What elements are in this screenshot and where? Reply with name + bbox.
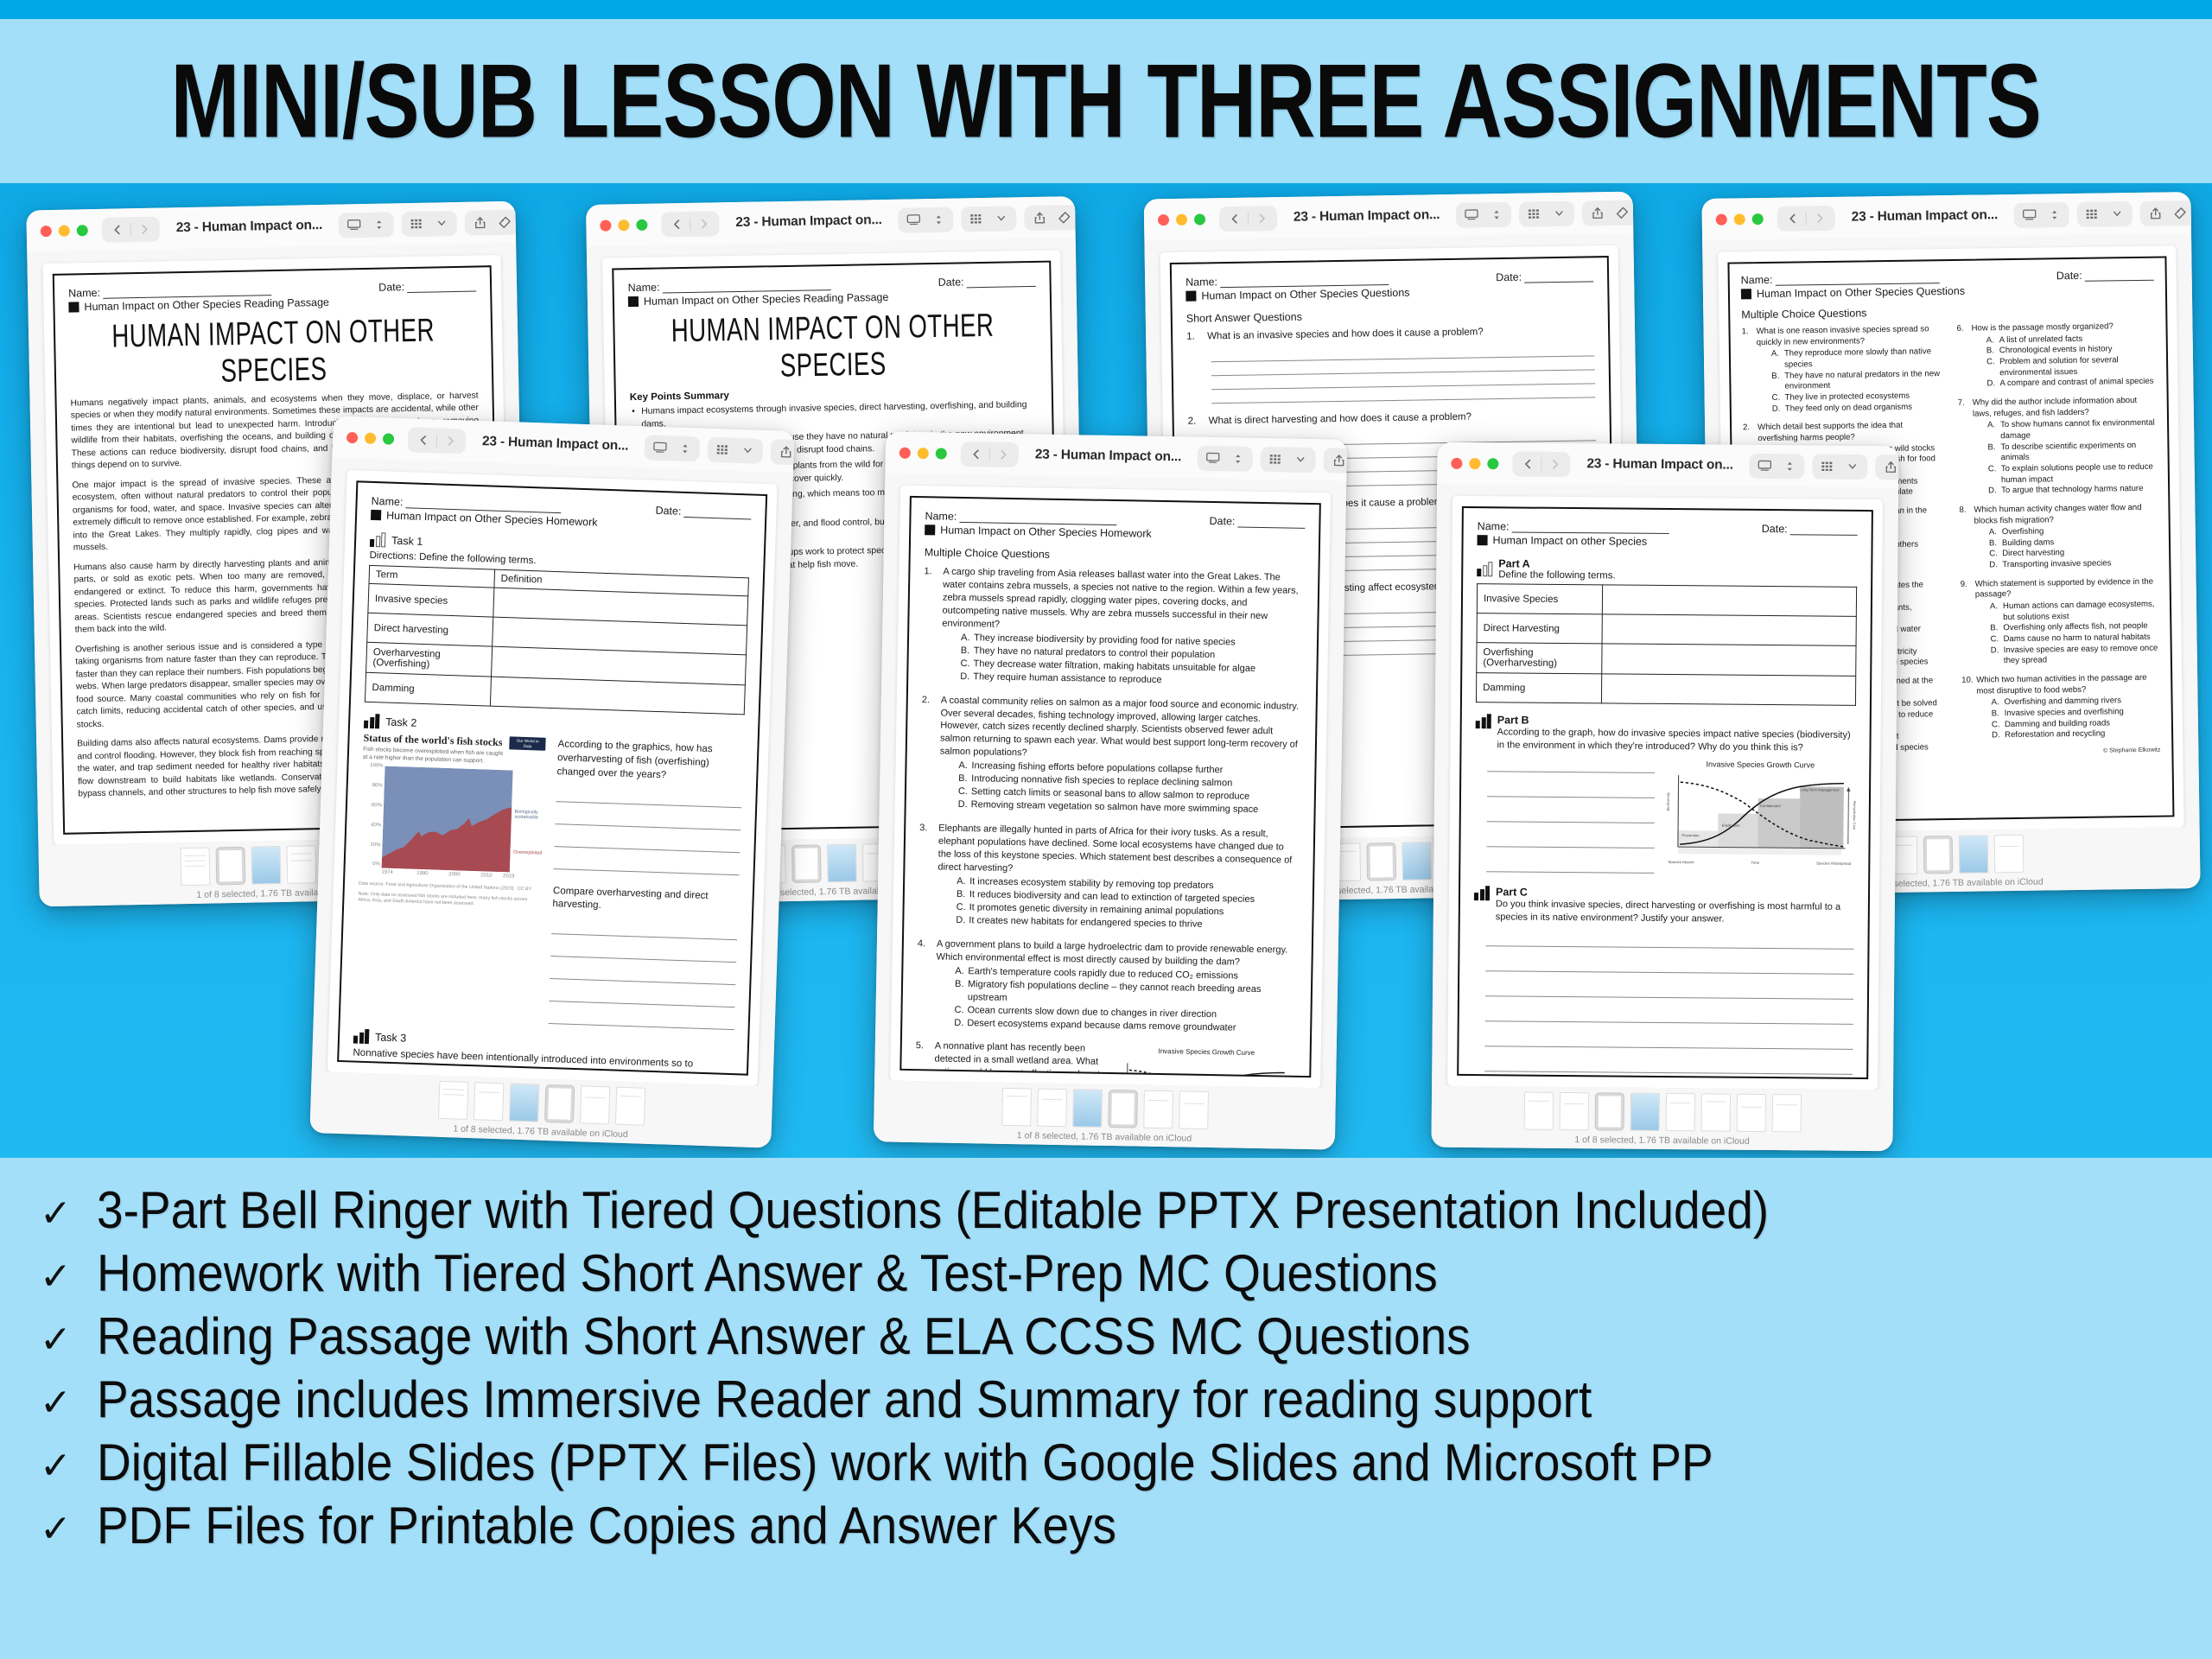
name-input-rule[interactable] (1511, 531, 1669, 534)
minimize-button[interactable] (918, 448, 929, 459)
window-title-text: 23 - Human Impact on... (1578, 456, 1742, 474)
check-icon: ✓ (40, 1321, 74, 1359)
share-icon[interactable] (468, 212, 492, 234)
nav-buttons[interactable] (408, 427, 467, 454)
view-mode-button[interactable] (1750, 453, 1805, 479)
chevron-down-icon[interactable] (989, 207, 1013, 229)
mc-options[interactable]: A.To show humans cannot fix environmenta… (1973, 418, 2157, 498)
thumbnail-item[interactable] (286, 845, 316, 884)
document-page: Name: Date: Human Impact on other Specie… (1447, 496, 1883, 1090)
bar-chart-icon (1477, 562, 1492, 576)
bar-chart-icon (353, 1029, 370, 1045)
thumbnail-item-selected[interactable] (215, 847, 245, 886)
date-input-rule[interactable] (1524, 281, 1593, 283)
chevron-down-icon[interactable] (1548, 202, 1571, 224)
window-controls[interactable] (37, 225, 94, 237)
thumbnail-item[interactable] (1771, 1094, 1801, 1132)
mc-options[interactable]: A.Increasing fishing efforts before popu… (939, 760, 1301, 817)
mc-option[interactable]: D.Transporting invasive species (1989, 558, 2158, 571)
tag-icon[interactable] (1052, 207, 1076, 228)
close-button[interactable] (346, 431, 358, 442)
legend-overexploited: Overexploited (513, 850, 542, 856)
answer-lines[interactable] (1472, 932, 1853, 1075)
mc-option[interactable]: A.They reproduce more slowly than native… (1771, 346, 1940, 371)
view-mode-icon[interactable] (342, 213, 365, 236)
finder-status-text: 1 of 8 selected, 1.76 TB available on iC… (882, 1128, 1326, 1146)
view-mode-button[interactable] (1456, 201, 1511, 227)
window-title-text: 23 - Human Impact on... (168, 218, 332, 237)
share-icon[interactable] (774, 441, 795, 463)
mc-options[interactable]: A.They increase biodiversity by providin… (941, 631, 1303, 689)
partB-header: Part B According to the graph, how do in… (1475, 714, 1855, 754)
close-button[interactable] (600, 219, 611, 231)
group-by-button[interactable] (2077, 201, 2133, 227)
window-homework-tasks[interactable]: 23 - Human Impact on... (309, 416, 794, 1147)
view-mode-button[interactable] (339, 212, 395, 238)
group-by-button[interactable] (961, 206, 1016, 232)
task2-questions: According to the graphics, how has overh… (549, 738, 744, 1030)
action-buttons[interactable] (1024, 204, 1087, 231)
feature-label: Homework with Tiered Short Answer & Test… (97, 1243, 1438, 1303)
date-input-rule[interactable] (967, 286, 1036, 288)
minimize-button[interactable] (618, 219, 629, 231)
action-buttons[interactable] (1324, 448, 1347, 474)
feature-label: Digital Fillable Slides (PPTX Files) wor… (97, 1432, 1713, 1492)
task2-question-1: According to the graphics, how has overh… (556, 738, 743, 785)
maximize-button[interactable] (1194, 213, 1205, 225)
minimize-button[interactable] (1734, 213, 1745, 225)
list-item: Humans impact ecosystems through invasiv… (630, 398, 1038, 431)
x-end-label: Species Widespread (1816, 861, 1851, 866)
group-by-icon[interactable] (405, 213, 429, 235)
y-axis-labels: 100% 80% 60% 40% 20% 0% (359, 766, 385, 868)
stage-label-eradication: Eradication (1722, 823, 1740, 827)
date-field-label: Date: (938, 275, 1036, 289)
group-by-icon[interactable] (1264, 448, 1287, 470)
feature-label: PDF Files for Printable Copies and Answe… (97, 1495, 1116, 1555)
view-mode-button[interactable] (645, 435, 701, 461)
thumbnail-item[interactable] (1736, 1094, 1765, 1132)
answer-lines[interactable] (549, 920, 738, 1030)
thumbnail-item[interactable] (1001, 1088, 1032, 1127)
feature-item: ✓ 3-Part Bell Ringer with Tiered Questio… (40, 1182, 2172, 1237)
stage-label-containment: Containment (1760, 804, 1781, 808)
action-buttons[interactable] (2140, 200, 2201, 226)
square-bullet-icon (1185, 291, 1196, 302)
chevron-left-icon[interactable] (664, 213, 688, 234)
worksheet-sheet: Name: Date: Human Impact on Other Specie… (899, 496, 1321, 1077)
share-icon[interactable] (2144, 202, 2167, 224)
thumbnail-item[interactable] (180, 848, 210, 887)
square-bullet-icon (371, 510, 381, 520)
worksheet-sheet: Name: Date: Human Impact on Other Specie… (337, 480, 767, 1075)
view-mode-icon[interactable] (2018, 204, 2041, 226)
worksheet-sheet: Name: Date: Human Impact on other Specie… (1457, 506, 1873, 1079)
worksheet-heading: HUMAN IMPACT ON OTHER SPECIES (645, 308, 1021, 388)
thumbnail-item[interactable] (1559, 1092, 1588, 1130)
close-button[interactable] (899, 447, 911, 458)
window-homework-multiple-choice[interactable]: 23 - Human Impact on... (874, 431, 1347, 1149)
thumbnail-item-selected[interactable] (1108, 1090, 1138, 1128)
maximize-button[interactable] (1487, 458, 1498, 469)
name-field-label: Name: (1185, 273, 1389, 289)
more-options-icon[interactable] (518, 211, 529, 233)
chevron-left-icon[interactable] (1223, 207, 1246, 229)
minimize-button[interactable] (59, 225, 70, 236)
nav-buttons[interactable] (1512, 451, 1570, 477)
date-field-label: Date: (2056, 269, 2154, 283)
date-field-label: Date: (1209, 515, 1305, 529)
mc-options[interactable]: A.Overfishing and damming rivers B.Invas… (1977, 696, 2161, 742)
more-options-icon[interactable] (1636, 201, 1643, 223)
chevron-updown-icon[interactable] (2043, 204, 2066, 226)
nav-buttons[interactable] (961, 441, 1019, 467)
thumbnail-item[interactable] (508, 1084, 538, 1122)
document-viewport: Name: Date: Human Impact on Other Specie… (874, 473, 1346, 1088)
group-by-button[interactable] (1519, 200, 1574, 226)
question-item: 1.What is an invasive species and how do… (1186, 325, 1594, 341)
chart-plot: Biologically sustainable Overexploited (382, 766, 545, 874)
definition-cell[interactable] (1602, 585, 1856, 617)
square-bullet-icon (1741, 289, 1751, 299)
page-title: MINI/SUB LESSON WITH THREE ASSIGNMENTS (171, 41, 2041, 161)
mc-options[interactable]: A.It increases ecosystem stability by re… (937, 874, 1299, 932)
maximize-button[interactable] (936, 448, 947, 459)
action-buttons[interactable] (771, 439, 795, 467)
worksheet-heading: HUMAN IMPACT ON OTHER SPECIES (86, 312, 462, 392)
name-date-row: Name: Date: (1478, 520, 1858, 536)
thumbnail-item[interactable] (1630, 1093, 1659, 1131)
section-label: Multiple Choice Questions (925, 546, 1305, 565)
window-titlebar[interactable]: 23 - Human Impact on... (1701, 192, 2191, 240)
mc-option[interactable]: B.To describe scientific experiments on … (1987, 440, 2156, 464)
thumbnail-item[interactable] (1665, 1093, 1694, 1131)
mc-question: 7.Why did the author include information… (1958, 396, 2158, 498)
thumbnail-item[interactable] (473, 1082, 503, 1121)
answer-lines[interactable] (1211, 342, 1595, 404)
chevron-updown-icon[interactable] (1226, 448, 1249, 469)
name-field-label: Name: (1741, 271, 1940, 286)
chevron-down-icon[interactable] (430, 213, 454, 235)
feature-item: ✓ Reading Passage with Short Answer & EL… (40, 1308, 2172, 1363)
group-by-button[interactable] (1813, 454, 1868, 480)
nav-buttons[interactable] (101, 216, 160, 242)
mc-option[interactable]: A.To show humans cannot fix environmenta… (1987, 418, 2156, 442)
maximize-button[interactable] (383, 433, 394, 444)
square-bullet-icon (628, 296, 639, 307)
section-label: Multiple Choice Questions (1741, 303, 2154, 321)
mc-option[interactable]: D.A compare and contrast of animal speci… (1986, 377, 2155, 390)
chevron-right-icon[interactable] (992, 443, 1015, 465)
section-label: Short Answer Questions (1186, 306, 1594, 324)
mc-option[interactable]: B.They have no natural predators in the … (1771, 369, 1940, 393)
group-by-icon[interactable] (1816, 455, 1840, 477)
action-buttons[interactable] (1876, 454, 1899, 480)
mc-option[interactable]: D.Reforestation and recycling (1992, 728, 2160, 741)
tag-icon[interactable] (1611, 201, 1634, 223)
definition-cell[interactable] (1601, 674, 1855, 706)
thumbnail-item[interactable] (1523, 1092, 1553, 1130)
view-mode-icon[interactable] (1459, 204, 1483, 226)
chevron-updown-icon[interactable] (926, 208, 950, 230)
partC-header: Part C Do you think invasive species, di… (1474, 887, 1854, 927)
mc-question: 8.Which human activity changes water flo… (1959, 503, 2158, 572)
action-buttons[interactable] (1582, 200, 1643, 226)
window-controls[interactable] (896, 447, 953, 459)
action-buttons[interactable] (465, 208, 529, 235)
check-icon: ✓ (40, 1447, 74, 1485)
close-button[interactable] (1158, 214, 1169, 226)
maximize-button[interactable] (636, 219, 647, 230)
date-input-rule[interactable] (1790, 534, 1858, 536)
date-input-rule[interactable] (1237, 527, 1305, 529)
table-row[interactable]: Direct Harvesting (1477, 613, 1856, 646)
maximize-button[interactable] (1752, 213, 1764, 224)
window-controls[interactable] (1154, 213, 1211, 226)
chevron-down-icon[interactable] (1841, 455, 1865, 477)
name-field-label: Name: (1478, 520, 1669, 534)
top-accent-bar (0, 0, 2212, 19)
header-banner: MINI/SUB LESSON WITH THREE ASSIGNMENTS (0, 19, 2212, 183)
date-input-rule[interactable] (407, 291, 476, 294)
feature-item: ✓ Passage includes Immersive Reader and … (40, 1371, 2172, 1427)
mc-option[interactable]: D.To argue that technology harms nature (1988, 484, 2157, 497)
answer-lines[interactable] (554, 788, 742, 875)
chevron-down-icon[interactable] (2106, 203, 2129, 225)
thumbnail-item-selected[interactable] (1923, 836, 1953, 874)
chevron-left-icon[interactable] (964, 442, 988, 464)
group-by-icon[interactable] (2081, 203, 2104, 225)
mc-question-5-row: 5.A nonnative plant has recently been de… (912, 1040, 1296, 1078)
thumbnail-item[interactable] (1993, 835, 2024, 873)
feature-list: ✓ 3-Part Bell Ringer with Tiered Questio… (0, 1158, 2212, 1659)
thumbnail-item-selected[interactable] (1366, 842, 1396, 881)
window-title-text: 23 - Human Impact on... (1285, 207, 1449, 226)
window-title-text: 23 - Human Impact on... (474, 434, 638, 454)
nav-buttons[interactable] (1777, 205, 1835, 231)
group-by-icon[interactable] (711, 438, 735, 461)
thumbnail-item-selected[interactable] (543, 1084, 574, 1123)
close-button[interactable] (41, 225, 52, 236)
mc-question: 1.What is one reason invasive species sp… (1741, 324, 1940, 415)
feature-label: Reading Passage with Short Answer & ELA … (97, 1306, 1471, 1366)
mc-option[interactable]: D.Invasive species are easy to remove on… (1991, 643, 2159, 667)
chevron-right-icon[interactable] (1808, 207, 1832, 228)
window-controls[interactable] (343, 431, 400, 444)
copyright-notice: © Stephanie Elkowitz (1962, 747, 2160, 756)
chevron-right-icon[interactable] (133, 218, 156, 240)
chevron-right-icon[interactable] (1250, 207, 1274, 229)
close-button[interactable] (1451, 457, 1462, 468)
chart-source-note: Data source: Food and Agriculture Organi… (359, 881, 541, 893)
view-mode-icon[interactable] (901, 209, 925, 231)
nav-buttons[interactable] (1219, 206, 1277, 232)
name-field-label: Name: (925, 510, 1116, 525)
table-row[interactable]: Damming (1476, 673, 1855, 706)
more-options-icon[interactable] (1077, 206, 1087, 227)
minimize-button[interactable] (365, 432, 376, 443)
window-controls[interactable] (1713, 213, 1770, 225)
thumbnail-item-selected[interactable] (1594, 1092, 1624, 1130)
view-mode-button[interactable] (1198, 445, 1253, 471)
invasive-species-growth-curve-figure: Invasive Species Growth Curve (1664, 760, 1855, 875)
thumbnail-item[interactable] (614, 1087, 645, 1126)
nav-buttons[interactable] (661, 211, 719, 237)
document-page: Name: Date: Human Impact on Other Specie… (327, 470, 778, 1086)
definitions-table[interactable]: Term Definition Invasive species Direct … (365, 565, 749, 715)
view-mode-icon[interactable] (1201, 447, 1224, 468)
date-field-label: Date: (1496, 270, 1593, 283)
table-row[interactable]: Overfishing (Overharvesting) (1477, 643, 1856, 677)
y-axis-label-right: Remediation Cost (1853, 801, 1857, 829)
window-controls[interactable] (596, 219, 653, 231)
definition-cell[interactable] (1602, 644, 1856, 677)
chevron-right-icon[interactable] (692, 213, 715, 234)
chart-subtitle: Fish stocks become overexploited when fi… (363, 747, 506, 766)
chevron-down-icon[interactable] (736, 439, 760, 461)
mc-options[interactable]: A.A list of unrelated facts B.Chronologi… (1972, 333, 2156, 390)
chevron-updown-icon[interactable] (367, 213, 391, 236)
chevron-updown-icon[interactable] (1484, 203, 1508, 225)
mc-question: 5.A nonnative plant has recently been de… (912, 1040, 1109, 1078)
mc-option[interactable]: C.Problem and solution for several envir… (1986, 355, 2155, 379)
mc-column-right: 6.How is the passage mostly organized? A… (1956, 321, 2160, 761)
more-options-icon[interactable] (2194, 201, 2201, 223)
x-start-label: Species Absent (1668, 861, 1694, 865)
thumbnail-item[interactable] (1179, 1090, 1209, 1129)
view-mode-button[interactable] (898, 207, 953, 232)
mc-options[interactable]: A.Earth's temperature cools rapidly due … (935, 964, 1297, 1035)
legend-sustainable: Biologically sustainable (514, 810, 543, 822)
square-bullet-icon (1478, 535, 1488, 545)
share-icon[interactable] (1586, 202, 1609, 224)
thumbnail-item[interactable] (1072, 1089, 1103, 1128)
tag-icon[interactable] (493, 211, 517, 233)
thumbnail-item[interactable] (1700, 1093, 1730, 1131)
check-icon: ✓ (40, 1384, 74, 1422)
mc-options[interactable]: A.They reproduce more slowly than native… (1757, 346, 1941, 415)
feature-item: ✓ PDF Files for Printable Copies and Ans… (40, 1497, 2172, 1553)
tag-icon[interactable] (2169, 202, 2192, 224)
thumbnail-item[interactable] (438, 1081, 468, 1120)
chart-note: Note: Only data on assessed fish stocks … (358, 892, 541, 910)
finder-status-text: 1 of 8 selected, 1.76 TB available on iC… (1440, 1134, 1884, 1147)
y-axis-label-left: Biodiversity (1666, 792, 1670, 810)
window-titlebar[interactable]: 23 - Human Impact on... (1437, 442, 1898, 488)
finder-thumbnail-strip[interactable]: 1 of 8 selected, 1.76 TB available on iC… (1431, 1086, 1893, 1152)
mc-option[interactable]: C.To explain solutions people use to red… (1988, 462, 2157, 486)
minimize-button[interactable] (1469, 458, 1480, 469)
maximize-button[interactable] (77, 225, 88, 236)
date-input-rule[interactable] (2085, 280, 2154, 282)
group-by-button[interactable] (402, 210, 458, 236)
date-field-label: Date: (655, 505, 751, 520)
thumbnail-item[interactable] (1402, 842, 1432, 880)
window-stage: 23 - Human Impact on... (0, 183, 2212, 1158)
thumbnails[interactable] (882, 1085, 1327, 1131)
share-icon[interactable] (1027, 207, 1051, 228)
feature-label: Passage includes Immersive Reader and Su… (97, 1369, 1592, 1429)
bar-chart-icon (364, 714, 380, 729)
chevron-right-icon[interactable] (439, 429, 463, 452)
thumbnail-item[interactable] (1143, 1090, 1173, 1129)
x-axis-label: Time (1751, 861, 1760, 865)
close-button[interactable] (1716, 213, 1727, 225)
minimize-button[interactable] (1176, 213, 1187, 225)
mc-options[interactable]: A.Overfishing B.Building dams C.Direct h… (1974, 525, 2158, 572)
chart-title: Invasive Species Growth Curve (1665, 760, 1855, 770)
mc-options[interactable]: A.Human actions can damage ecosystems, b… (1975, 600, 2159, 668)
group-by-button[interactable] (1261, 446, 1316, 472)
check-icon: ✓ (40, 1258, 74, 1296)
chevron-left-icon[interactable] (105, 219, 129, 241)
view-mode-button[interactable] (2014, 202, 2069, 228)
chevron-right-icon[interactable] (1543, 453, 1567, 474)
square-bullet-icon (68, 302, 79, 312)
mc-option[interactable]: A.Human actions can damage ecosystems, b… (1990, 600, 2158, 624)
question-item: 2.What is direct harvesting and how does… (1188, 410, 1596, 426)
doc-subtitle: Human Impact on other Species (1478, 534, 1858, 550)
document-viewport: Name: Date: Human Impact on Other Specie… (312, 457, 793, 1086)
window-controls[interactable] (1447, 457, 1504, 469)
window-bell-ringer[interactable]: 23 - Human Impact on... (1431, 442, 1898, 1152)
thumbnail-item[interactable] (1958, 835, 1988, 873)
chevron-down-icon[interactable] (1289, 448, 1313, 470)
mc-question: 2.A coastal community relies on salmon a… (920, 694, 1302, 817)
mc-question: 4.A government plans to build a large hy… (916, 938, 1298, 1035)
table-row[interactable]: Invasive Species (1477, 584, 1856, 617)
chevron-updown-icon[interactable] (1778, 455, 1802, 477)
thumbnail-item[interactable] (827, 844, 857, 883)
thumbnails[interactable] (1440, 1091, 1885, 1133)
stage-label-prevention: Prevention (1681, 833, 1699, 837)
finder-thumbnail-strip[interactable]: 1 of 8 selected, 1.76 TB available on iC… (874, 1080, 1336, 1149)
group-by-button[interactable] (708, 436, 764, 463)
mc-question: 6.How is the passage mostly organized? A… (1956, 321, 2155, 391)
mc-question: 1.A cargo ship traveling from Asia relea… (922, 565, 1304, 689)
share-icon[interactable] (1327, 449, 1347, 471)
share-icon[interactable] (1879, 456, 1899, 478)
mc-option[interactable]: D.They feed only on dead organisms (1772, 402, 1941, 415)
view-mode-icon[interactable] (1753, 454, 1777, 476)
definition-cell[interactable] (1602, 614, 1856, 646)
definitions-table[interactable]: Invasive Species Direct Harvesting Overf… (1476, 583, 1857, 706)
chevron-left-icon[interactable] (1516, 453, 1539, 474)
invasive-species-growth-curve-figure: Invasive Species Growth Curve (1114, 1044, 1296, 1077)
group-by-icon[interactable] (1522, 203, 1546, 225)
date-field-label: Date: (378, 280, 476, 294)
thumbnail-item[interactable] (1037, 1089, 1067, 1128)
mc-question: 10.Which two human activities in the pas… (1961, 673, 2160, 742)
group-by-icon[interactable] (964, 207, 988, 229)
check-icon: ✓ (40, 1195, 74, 1233)
bar-chart-icon (1476, 714, 1491, 728)
answer-lines[interactable] (1474, 759, 1655, 874)
chevron-updown-icon[interactable] (673, 437, 697, 460)
partB-body: Invasive Species Growth Curve (1474, 759, 1855, 876)
square-bullet-icon (925, 524, 935, 535)
bar-chart-icon (1474, 887, 1490, 901)
task2-body: Status of the world's fish stocks Fish s… (354, 732, 744, 1031)
thumbnail-item[interactable] (251, 846, 281, 885)
feature-item: ✓ Homework with Tiered Short Answer & Te… (40, 1245, 2172, 1300)
fish-stocks-figure: Status of the world's fish stocks Fish s… (354, 732, 546, 1024)
thumbnail-item[interactable] (579, 1085, 609, 1124)
thumbnail-item-selected[interactable] (791, 844, 822, 883)
chevron-left-icon[interactable] (411, 429, 435, 451)
view-mode-icon[interactable] (648, 436, 672, 459)
chevron-left-icon[interactable] (1781, 207, 1804, 229)
